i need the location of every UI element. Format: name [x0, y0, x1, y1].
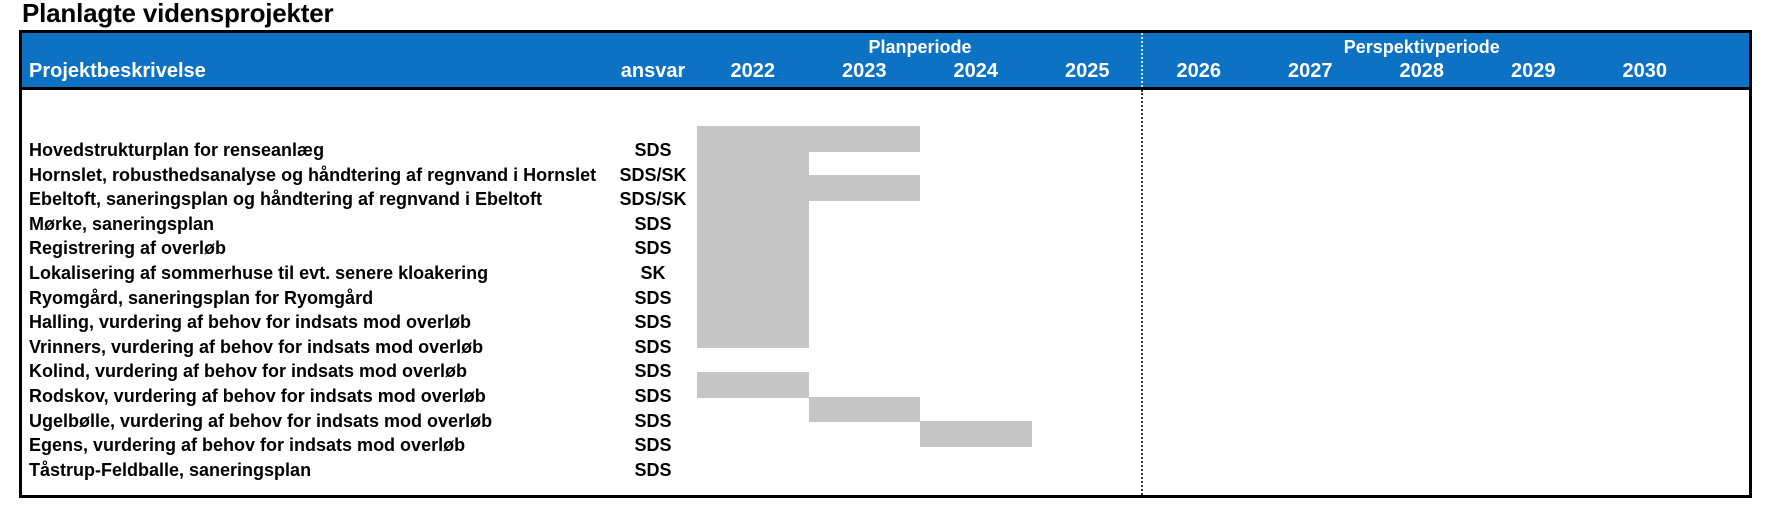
table-row[interactable]: Halling, vurdering af behov for indsats …	[22, 310, 1749, 335]
row-description: Kolind, vurdering af behov for indsats m…	[29, 359, 467, 384]
table-row[interactable]: Hornslet, robusthedsanalyse og håndterin…	[22, 163, 1749, 188]
table-row[interactable]: Vrinners, vurdering af behov for indsats…	[22, 335, 1749, 360]
project-table: Planperiode Perspektivperiode Projektbes…	[19, 30, 1752, 498]
table-row[interactable]: Egens, vurdering af behov for indsats mo…	[22, 433, 1749, 458]
column-header-year-2024: 2024	[920, 60, 1032, 83]
row-description: Tåstrup-Feldballe, saneringsplan	[29, 458, 311, 483]
group-header-perspektivperiode: Perspektivperiode	[1143, 37, 1701, 58]
column-header-year-2022: 2022	[697, 60, 809, 83]
column-header-year-2026: 2026	[1143, 60, 1255, 83]
page-title: Planlagte vidensprojekter	[22, 0, 333, 29]
row-responsible: SK	[583, 261, 723, 286]
column-header-description: Projektbeskrivelse	[29, 60, 206, 83]
table-row[interactable]: Rodskov, vurdering af behov for indsats …	[22, 384, 1749, 409]
row-responsible: SDS	[583, 433, 723, 458]
row-responsible: SDS/SK	[583, 163, 723, 188]
group-header-planperiode: Planperiode	[697, 37, 1143, 58]
table-header: Planperiode Perspektivperiode Projektbes…	[22, 33, 1749, 90]
table-row[interactable]: Hovedstrukturplan for renseanlægSDS	[22, 138, 1749, 163]
row-description: Ebeltoft, saneringsplan og håndtering af…	[29, 187, 542, 212]
column-header-year-2029: 2029	[1478, 60, 1590, 83]
row-description: Mørke, saneringsplan	[29, 212, 214, 237]
column-header-year-2025: 2025	[1032, 60, 1144, 83]
table-row[interactable]: Ugelbølle, vurdering af behov for indsat…	[22, 409, 1749, 434]
period-divider-body	[1141, 90, 1143, 495]
row-responsible: SDS	[583, 212, 723, 237]
column-header-year-2023: 2023	[809, 60, 921, 83]
row-responsible: SDS	[583, 138, 723, 163]
table-row[interactable]: Ebeltoft, saneringsplan og håndtering af…	[22, 187, 1749, 212]
row-responsible: SDS	[583, 458, 723, 483]
table-row[interactable]: Tåstrup-Feldballe, saneringsplanSDS	[22, 458, 1749, 483]
row-responsible: SDS	[583, 286, 723, 311]
column-header-year-2030: 2030	[1589, 60, 1701, 83]
row-description: Ryomgård, saneringsplan for Ryomgård	[29, 286, 373, 311]
gantt-page: Planlagte vidensprojekter Planperiode Pe…	[0, 0, 1773, 524]
column-header-year-2027: 2027	[1255, 60, 1367, 83]
row-description: Hovedstrukturplan for renseanlæg	[29, 138, 324, 163]
row-responsible: SDS	[583, 409, 723, 434]
row-responsible: SDS	[583, 359, 723, 384]
row-description: Halling, vurdering af behov for indsats …	[29, 310, 471, 335]
table-row[interactable]: Ryomgård, saneringsplan for RyomgårdSDS	[22, 286, 1749, 311]
row-description: Registrering af overløb	[29, 236, 226, 261]
table-row[interactable]: Mørke, saneringsplanSDS	[22, 212, 1749, 237]
row-responsible: SDS	[583, 384, 723, 409]
row-description: Hornslet, robusthedsanalyse og håndterin…	[29, 163, 596, 188]
row-description: Rodskov, vurdering af behov for indsats …	[29, 384, 486, 409]
row-responsible: SDS	[583, 310, 723, 335]
column-header-year-2028: 2028	[1366, 60, 1478, 83]
row-description: Ugelbølle, vurdering af behov for indsat…	[29, 409, 492, 434]
row-description: Lokalisering af sommerhuse til evt. sene…	[29, 261, 488, 286]
table-row[interactable]: Lokalisering af sommerhuse til evt. sene…	[22, 261, 1749, 286]
table-row[interactable]: Kolind, vurdering af behov for indsats m…	[22, 359, 1749, 384]
row-responsible: SDS/SK	[583, 187, 723, 212]
row-description: Egens, vurdering af behov for indsats mo…	[29, 433, 465, 458]
row-responsible: SDS	[583, 236, 723, 261]
table-row[interactable]: Registrering af overløbSDS	[22, 236, 1749, 261]
period-divider-header	[1141, 33, 1143, 87]
row-description: Vrinners, vurdering af behov for indsats…	[29, 335, 483, 360]
table-body: Hovedstrukturplan for renseanlægSDSHorns…	[22, 90, 1749, 495]
row-responsible: SDS	[583, 335, 723, 360]
